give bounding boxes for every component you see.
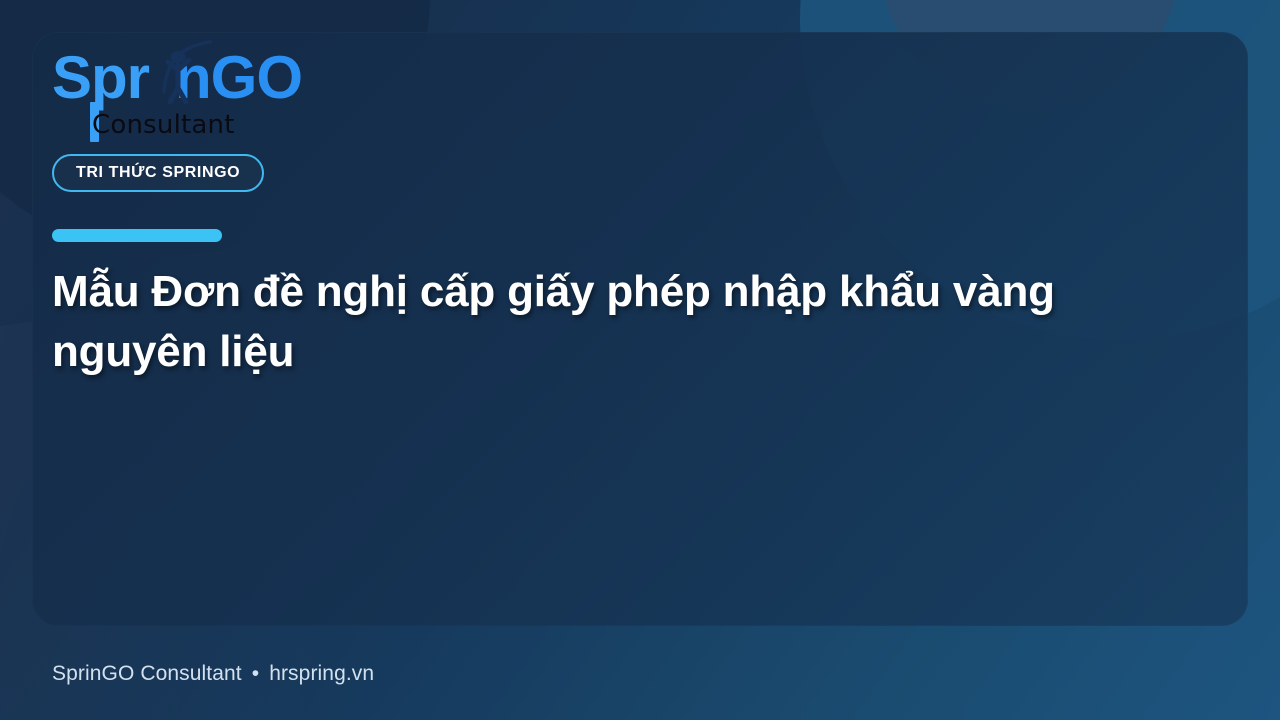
logo-wordmark-part-a: Spr — [52, 44, 149, 111]
footer-separator: • — [252, 662, 259, 686]
footer-site: hrspring.vn — [269, 662, 374, 686]
footer-brand: SprinGO Consultant — [52, 662, 242, 686]
logo-subtext: Consultant — [92, 110, 235, 140]
brand-logo: SprnGO Consultant — [52, 48, 352, 148]
slide-canvas: SprnGO Consultant TRI THỨC SPRINGO Mẫu Đ… — [0, 0, 1280, 720]
accent-bar — [52, 229, 222, 242]
footer: SprinGO Consultant • hrspring.vn — [52, 662, 374, 686]
category-badge[interactable]: TRI THỨC SPRINGO — [52, 154, 264, 192]
category-badge-label: TRI THỨC SPRINGO — [76, 164, 240, 182]
page-title: Mẫu Đơn đề nghị cấp giấy phép nhập khẩu … — [52, 262, 1182, 382]
person-figure-icon — [156, 40, 216, 104]
